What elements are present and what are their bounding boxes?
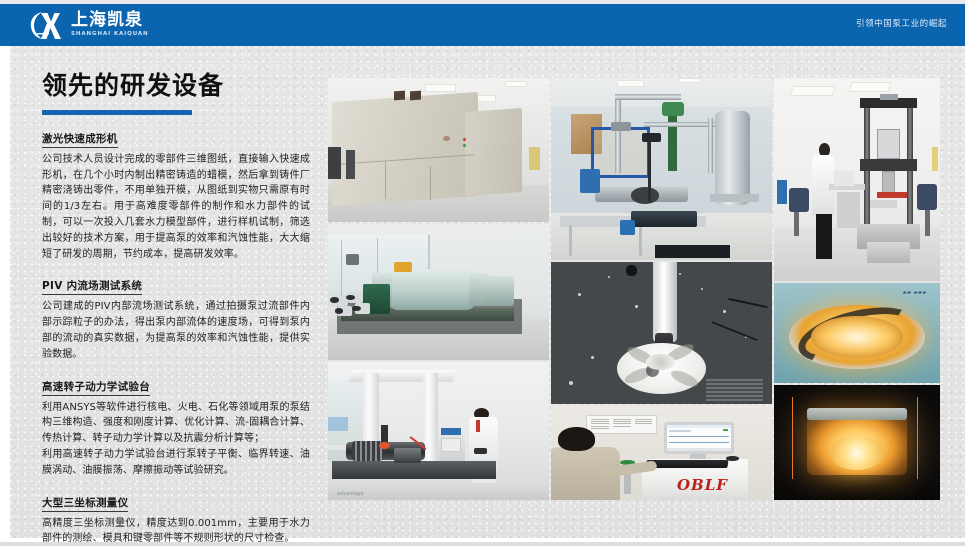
bottom-strip xyxy=(0,542,965,546)
section-rotor-dynamics: 高速转子动力学试验台 利用ANSYS等软件进行核电、火电、石化等领域用泵的泵结构… xyxy=(42,375,310,479)
title-underline xyxy=(42,110,192,115)
photo-large-cmm-gantry[interactable]: advantage xyxy=(328,362,549,500)
photo-induction-furnace-top[interactable]: ▰▰ ▰▰▰ xyxy=(774,283,940,383)
instrument-brand-label: OBLF xyxy=(677,476,728,494)
photo-universal-testing-machine[interactable] xyxy=(774,78,940,281)
brand-name-cn: 上海凯泉 xyxy=(71,12,149,29)
kaiquan-monogram-icon xyxy=(28,10,64,41)
site-header: 上海凯泉 SHANGHAI KAIQUAN 引领中国泵工业的崛起 xyxy=(0,4,965,46)
brand-wordmark: 上海凯泉 SHANGHAI KAIQUAN xyxy=(71,12,149,38)
section-piv: PIV 内流场测试系统 公司建成的PIV内部流场测试系统，通过拍摄泵过流部件内部… xyxy=(42,274,310,362)
header-tagline: 引领中国泵工业的崛起 xyxy=(856,20,947,29)
section-heading: 激光快速成形机 xyxy=(42,131,118,148)
section-cmm: 大型三坐标测量仪 高精度三坐标测量仪，精度达到0.001mm，主要用于水力部件的… xyxy=(42,491,310,547)
section-body: 利用ANSYS等软件进行核电、火电、石化等领域用泵的泵结构三维构造、强度和刚度计… xyxy=(42,400,310,479)
section-body: 公司技术人员设计完成的零部件三维图纸，直接输入快速成形机，在几个小时内制出精密铸… xyxy=(42,152,310,263)
content-canvas: 领先的研发设备 激光快速成形机 公司技术人员设计完成的零部件三维图纸，直接输入快… xyxy=(10,46,965,538)
section-heading: 高速转子动力学试验台 xyxy=(42,379,150,396)
photo-cmm-impeller-inspection[interactable] xyxy=(551,262,772,404)
furnace-label: ▰▰ ▰▰▰ xyxy=(903,290,927,296)
section-body: 公司建成的PIV内部流场测试系统，通过拍摄泵过流部件内部示踪粒子的办法，得出泵内… xyxy=(42,299,310,362)
photo-laser-prototyping-machine[interactable] xyxy=(328,78,549,222)
section-heading: 大型三坐标测量仪 xyxy=(42,495,128,512)
text-column: 领先的研发设备 激光快速成形机 公司技术人员设计完成的零部件三维图纸，直接输入快… xyxy=(42,72,310,547)
photo-furnace-melt-pool[interactable] xyxy=(774,385,940,500)
page-title: 领先的研发设备 xyxy=(42,72,310,101)
brand-logo[interactable]: 上海凯泉 SHANGHAI KAIQUAN xyxy=(28,9,149,41)
slide-page: 上海凯泉 SHANGHAI KAIQUAN 引领中国泵工业的崛起 领先的研发设备… xyxy=(0,0,965,546)
section-laser: 激光快速成形机 公司技术人员设计完成的零部件三维图纸，直接输入快速成形机，在几个… xyxy=(42,127,310,263)
section-heading: PIV 内流场测试系统 xyxy=(42,278,142,295)
photo-oblf-spectrometer[interactable]: OBLF xyxy=(551,406,772,500)
photo-grid: ▰▰ ▰▰▰ xyxy=(328,78,940,500)
photo-piv-flow-test-system[interactable] xyxy=(551,78,772,260)
brand-name-en: SHANGHAI KAIQUAN xyxy=(71,32,149,38)
photo-rotor-dynamics-test-bench[interactable] xyxy=(328,224,549,360)
